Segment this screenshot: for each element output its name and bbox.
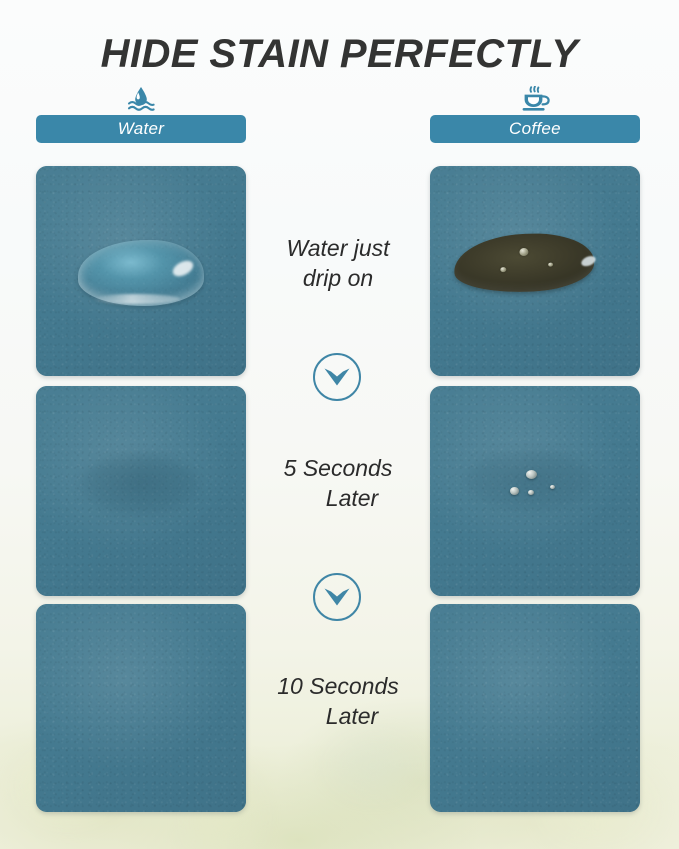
badge-label-coffee: Coffee [430, 115, 640, 143]
badge-label-water: Water [36, 115, 246, 143]
chevron-down-icon [313, 573, 361, 621]
stage-label-5-seconds: 5 Seconds Later [246, 454, 430, 514]
leather-grain-texture [36, 604, 246, 812]
stage-label-line2: Later [246, 702, 430, 732]
coffee-bubble [548, 262, 553, 266]
stage-label-10-seconds: 10 Seconds Later [246, 672, 430, 732]
swatch-coffee-drip [430, 166, 640, 376]
swatch-water-drip [36, 166, 246, 376]
swatch-coffee-5s [430, 386, 640, 596]
residual-droplet [528, 490, 534, 495]
swatch-water-10s [36, 604, 246, 812]
residual-droplet [550, 485, 555, 489]
water-drop-icon [36, 86, 246, 113]
water-damp-patch [80, 454, 200, 516]
category-coffee: Coffee [430, 86, 640, 143]
water-bead-highlight [92, 294, 180, 304]
residual-droplet [526, 470, 537, 479]
swatch-coffee-10s [430, 604, 640, 812]
stage-label-line1: 5 Seconds [284, 455, 393, 481]
coffee-bubble [500, 267, 506, 272]
coffee-cup-icon [430, 86, 640, 113]
infographic-root: HIDE STAIN PERFECTLY Water C [0, 0, 679, 849]
stage-label-line1: 10 Seconds [277, 673, 398, 699]
stage-label-line2: Later [246, 484, 430, 514]
chevron-down-icon [313, 353, 361, 401]
swatch-water-5s [36, 386, 246, 596]
page-title: HIDE STAIN PERFECTLY [0, 32, 679, 77]
residual-droplet [510, 487, 519, 495]
category-water: Water [36, 86, 246, 143]
coffee-damp-patch [464, 450, 596, 512]
leather-grain-texture [430, 604, 640, 812]
coffee-bubble [519, 248, 528, 256]
stage-label-drip: Water just drip on [246, 234, 430, 294]
stage-label-line2: drip on [246, 264, 430, 294]
stage-label-line1: Water just [286, 235, 389, 261]
